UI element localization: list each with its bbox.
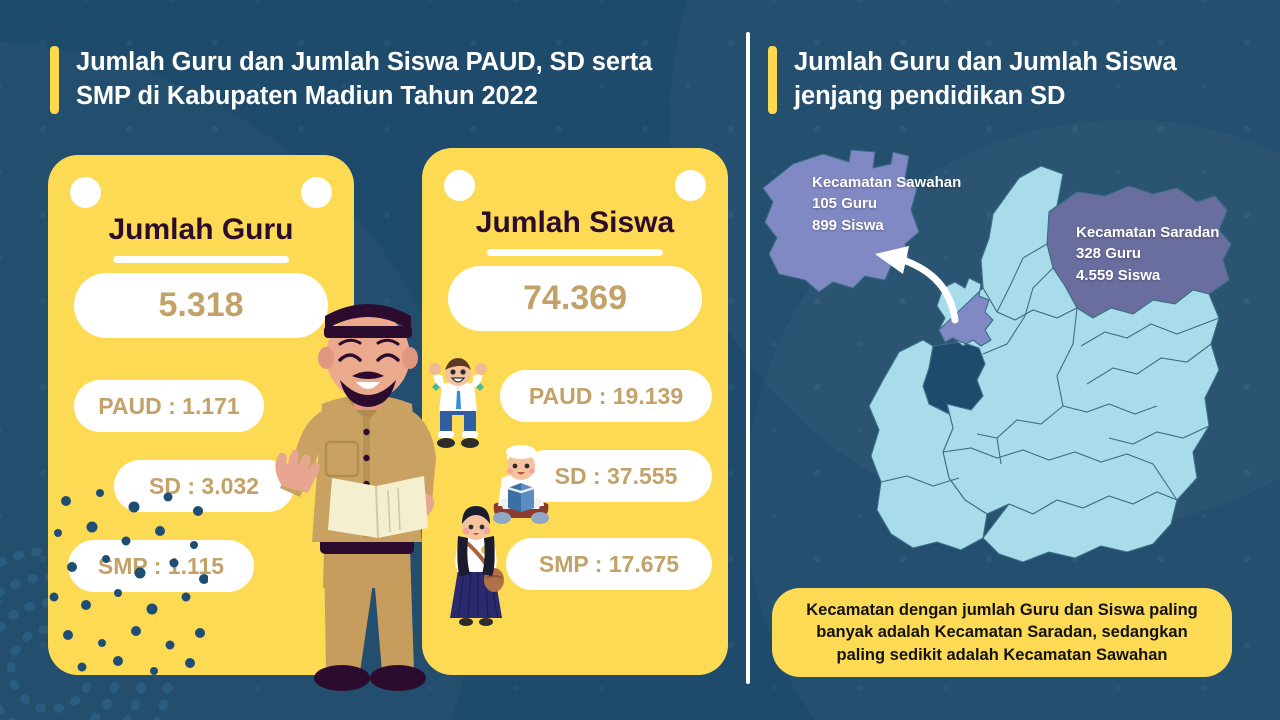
map-label-sawahan: Kecamatan Sawahan 105 Guru 899 Siswa (812, 172, 961, 236)
stat-pill-paud: PAUD : 1.171 (74, 380, 264, 432)
map-label-saradan: Kecamatan Saradan 328 Guru 4.559 Siswa (1076, 222, 1219, 286)
stat-pill-smp: SMP : 17.675 (506, 538, 712, 590)
left-panel-heading: Jumlah Guru dan Jumlah Siswa PAUD, SD se… (50, 46, 720, 114)
right-heading-text: Jumlah Guru dan Jumlah Siswa jenjang pen… (794, 46, 1177, 114)
map-summary-note: Kecamatan dengan jumlah Guru dan Siswa p… (772, 588, 1232, 677)
stat-pill-sd: SD : 37.555 (520, 450, 712, 502)
card-punch-hole-left (70, 177, 101, 208)
left-heading-text: Jumlah Guru dan Jumlah Siswa PAUD, SD se… (76, 46, 652, 114)
stat-card-jumlah-guru: Jumlah Guru 5.318 PAUD : 1.171 SD : 3.03… (48, 155, 354, 675)
card-total-value: 5.318 (74, 273, 328, 338)
card-punch-hole-right (675, 170, 706, 201)
stat-pill-paud: PAUD : 19.139 (500, 370, 712, 422)
stat-card-jumlah-siswa: Jumlah Siswa 74.369 PAUD : 19.139 SD : 3… (422, 148, 728, 675)
heading-accent-bar (768, 46, 777, 114)
card-title-underline (487, 249, 663, 256)
card-total-value: 74.369 (448, 266, 702, 331)
card-title: Jumlah Siswa (422, 206, 728, 240)
card-punch-hole-left (444, 170, 475, 201)
stat-pill-sd: SD : 3.032 (114, 460, 294, 512)
right-panel-heading: Jumlah Guru dan Jumlah Siswa jenjang pen… (768, 46, 1238, 114)
card-title: Jumlah Guru (48, 213, 354, 247)
heading-accent-bar (50, 46, 59, 114)
card-punch-hole-right (301, 177, 332, 208)
panel-divider (746, 32, 750, 684)
card-title-underline (113, 256, 289, 263)
stat-pill-smp: SMP : 1.115 (68, 540, 254, 592)
